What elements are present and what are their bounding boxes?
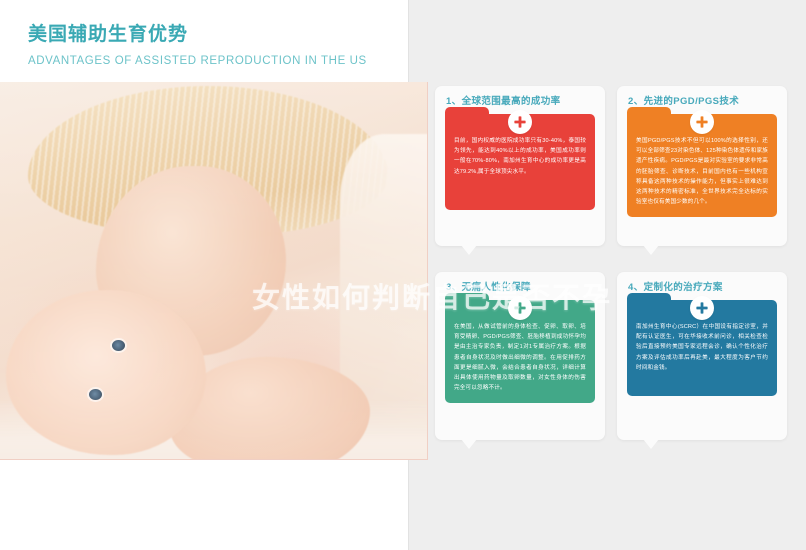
advantage-card-4-text: 南加州生育中心(SCRC）在中国设有指定诊室，并配有认证医生，可在华接收术前问诊…	[636, 322, 768, 373]
advantage-card-4-bodywrap: 南加州生育中心(SCRC）在中国设有指定诊室，并配有认证医生，可在华接收术前问诊…	[617, 300, 787, 396]
plus-icon	[690, 110, 714, 134]
page-subtitle: ADVANTAGES OF ASSISTED REPRODUCTION IN T…	[28, 52, 408, 70]
page-header: 美国辅助生育优势 ADVANTAGES OF ASSISTED REPRODUC…	[28, 22, 408, 70]
advantage-card-2-text: 美国PGD/PGS技术不但可以100%的选择性别，还可以全部筛查23对染色体、1…	[636, 136, 768, 207]
advantage-card-4[interactable]: 4、定制化的治疗方案 南加州生育中心(SCRC）在中国设有指定诊室，并配有认证医…	[617, 272, 787, 440]
advantage-card-4-title: 4、定制化的治疗方案	[617, 272, 787, 295]
advantage-card-2[interactable]: 2、先进的PGD/PGS技术 美国PGD/PGS技术不但可以100%的选择性别，…	[617, 86, 787, 246]
advantage-card-2-title: 2、先进的PGD/PGS技术	[617, 86, 787, 109]
photo-overlay-headline: 女性如何判断自己是否不孕	[252, 281, 612, 315]
advantage-card-1-bodywrap: 目前，国内权威的医院成功率只有30-40%，泰国较为领先，能达到40%以上的成功…	[435, 114, 605, 210]
plus-icon	[690, 296, 714, 320]
advantage-card-4-tail	[643, 439, 659, 449]
advantage-card-3-bodywrap: 在美国，从做试管前的身体检查、促卵、取卵、培育受精卵、PGD/PGS筛查、胚胎移…	[435, 300, 605, 403]
hero-photo	[0, 82, 428, 460]
advantage-card-1-title: 1、全球范围最高的成功率	[435, 86, 605, 109]
advantage-card-3-tail	[461, 439, 477, 449]
advantage-card-1-text: 目前，国内权威的医院成功率只有30-40%，泰国较为领先，能达到40%以上的成功…	[454, 136, 586, 177]
plus-icon	[508, 110, 532, 134]
advantage-card-2-bodywrap: 美国PGD/PGS技术不但可以100%的选择性别，还可以全部筛查23对染色体、1…	[617, 114, 787, 217]
advantage-card-3-text: 在美国，从做试管前的身体检查、促卵、取卵、培育受精卵、PGD/PGS筛查、胚胎移…	[454, 322, 586, 393]
advantage-card-2-tail	[643, 245, 659, 255]
advantage-card-1[interactable]: 1、全球范围最高的成功率 目前，国内权威的医院成功率只有30-40%，泰国较为领…	[435, 86, 605, 246]
advantage-card-1-tail	[461, 245, 477, 255]
photo-border	[0, 82, 428, 460]
page-title: 美国辅助生育优势	[28, 22, 408, 48]
advantage-card-grid: 1、全球范围最高的成功率 目前，国内权威的医院成功率只有30-40%，泰国较为领…	[435, 86, 787, 446]
